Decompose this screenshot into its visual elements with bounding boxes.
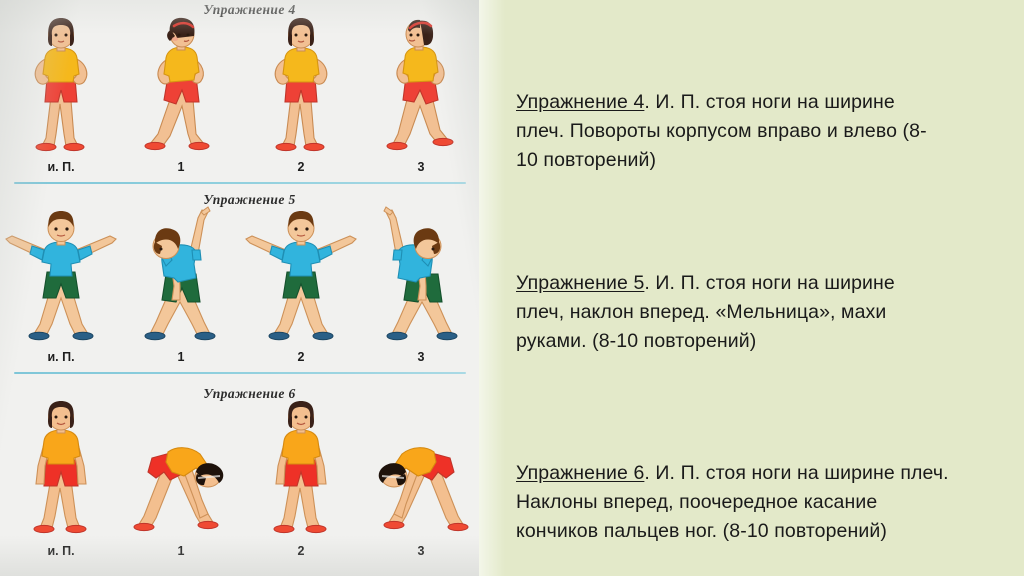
row-divider-1: [14, 182, 466, 184]
step-label-2-ex5: 2: [242, 350, 360, 364]
slide-root: Упражнение 4: [0, 0, 1024, 576]
exercise-description-lead-4: Упражнение 4: [516, 91, 644, 113]
figure-pose-2-ex4: [242, 16, 360, 156]
figure-pose-ip-ex6: [2, 400, 120, 540]
step-label-ip-ex4: и. П.: [2, 160, 120, 174]
exercise-row-6: Упражнение 6: [0, 380, 479, 576]
step-labels-6: и. П. 1 2 3: [0, 544, 479, 562]
figure-pose-ip-ex4: [2, 16, 120, 156]
step-label-1-ex6: 1: [122, 544, 240, 558]
figure-pose-1-ex6: [122, 400, 240, 540]
exercise-description-lead-5: Упражнение 5: [516, 272, 644, 294]
step-label-2-ex4: 2: [242, 160, 360, 174]
exercise-description-5: Упражнение 5. И. П. стоя ноги на ширине …: [516, 269, 948, 356]
figure-pose-3-ex4: [362, 16, 479, 156]
step-label-3-ex5: 3: [362, 350, 479, 364]
figure-strip-5: [0, 206, 479, 346]
row-divider-2: [14, 372, 466, 374]
step-label-ip-ex5: и. П.: [2, 350, 120, 364]
step-label-2-ex6: 2: [242, 544, 360, 558]
step-label-1-ex4: 1: [122, 160, 240, 174]
exercise-illustration-panel: Упражнение 4: [0, 0, 479, 576]
figure-pose-3-ex5: [362, 206, 479, 346]
exercise-row-5: Упражнение 5: [0, 190, 479, 380]
exercise-description-4: Упражнение 4. И. П. стоя ноги на ширине …: [516, 88, 948, 175]
figure-pose-ip-ex5: [2, 206, 120, 346]
step-label-3-ex6: 3: [362, 544, 479, 558]
exercise-row-4: Упражнение 4: [0, 0, 479, 190]
figure-pose-1-ex5: [122, 206, 240, 346]
step-labels-5: и. П. 1 2 3: [0, 350, 479, 368]
description-text-panel: Упражнение 4. И. П. стоя ноги на ширине …: [479, 0, 1024, 576]
exercise-description-6: Упражнение 6. И. П. стоя ноги на ширине …: [516, 459, 962, 546]
exercise-description-lead-6: Упражнение 6: [516, 462, 644, 484]
figure-strip-6: [0, 402, 479, 540]
step-label-ip-ex6: и. П.: [2, 544, 120, 558]
figure-strip-4: [0, 16, 479, 156]
step-label-3-ex4: 3: [362, 160, 479, 174]
figure-pose-2-ex6: [242, 400, 360, 540]
figure-pose-2-ex5: [242, 206, 360, 346]
step-label-1-ex5: 1: [122, 350, 240, 364]
figure-pose-3-ex6: [362, 400, 479, 540]
step-labels-4: и. П. 1 2 3: [0, 160, 479, 178]
figure-pose-1-ex4: [122, 16, 240, 156]
